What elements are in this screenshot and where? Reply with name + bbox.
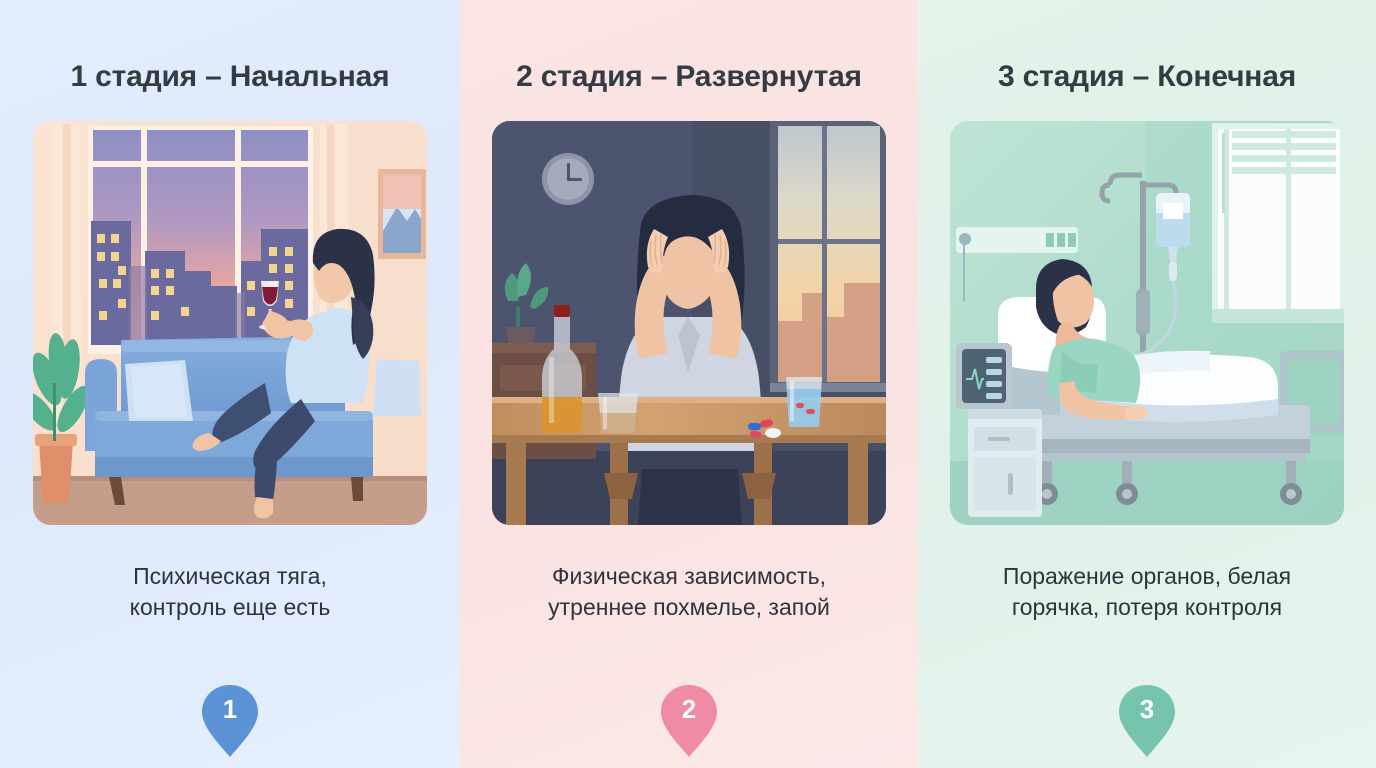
stage-3-badge-number: 3	[1116, 696, 1178, 722]
stage-3-title: 3 стадия – Конечная	[998, 62, 1296, 92]
living-room-scene-svg	[33, 121, 427, 525]
stage-2-badge: 2	[658, 682, 720, 760]
stage-1-badge: 1	[199, 682, 261, 760]
stage-1-caption: Психическая тяга, контроль еще есть	[130, 561, 331, 623]
stage-panel-1: 1 стадия – Начальная	[0, 0, 460, 768]
stage-3-illustration	[950, 121, 1344, 525]
stage-1-badge-number: 1	[199, 696, 261, 722]
stage-1-illustration	[33, 121, 427, 525]
stages-infographic: 1 стадия – Начальная	[0, 0, 1376, 768]
stage-2-illustration	[492, 121, 886, 525]
stage-panel-2: 2 стадия – Развернутая	[460, 0, 918, 768]
stage-2-title: 2 стадия – Развернутая	[516, 62, 862, 92]
stage-3-caption: Поражение органов, белая горячка, потеря…	[1003, 561, 1291, 623]
hangover-table-scene-svg	[492, 121, 886, 525]
stage-2-badge-number: 2	[658, 696, 720, 722]
hospital-room-scene-svg	[950, 121, 1344, 525]
stage-3-badge: 3	[1116, 682, 1178, 760]
stage-1-title: 1 стадия – Начальная	[71, 62, 390, 92]
stage-2-caption: Физическая зависимость, утреннее похмель…	[548, 561, 830, 623]
stage-panel-3: 3 стадия – Конечная	[918, 0, 1376, 768]
